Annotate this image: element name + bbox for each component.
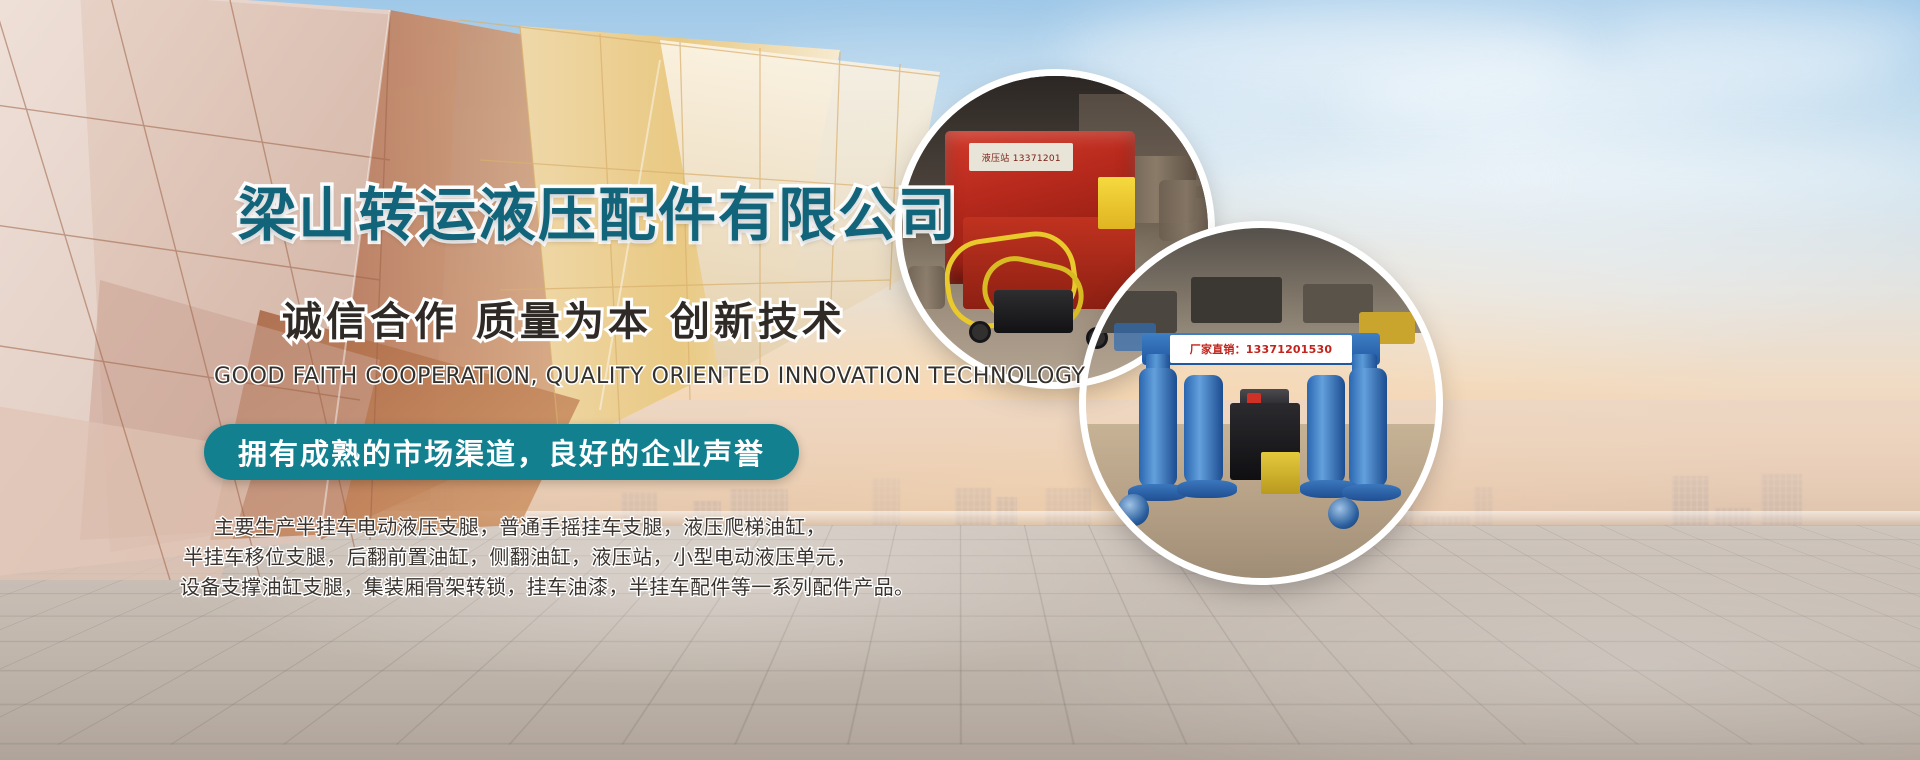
product-description: 主要生产半挂车电动液压支腿，普通手摇挂车支腿，液压爬梯油缸，半挂车移位支腿，后翻… (180, 512, 860, 602)
description-line: 主要生产半挂车电动液压支腿，普通手摇挂车支腿，液压爬梯油缸， (180, 512, 860, 542)
slogan-english: GOOD FAITH COOPERATION, QUALITY ORIENTED… (214, 366, 1086, 388)
description-line: 半挂车移位支腿，后翻前置油缸，侧翻油缸，液压站，小型电动液压单元， (180, 542, 860, 572)
phone-number-sign: 厂家直销：13371201530 (1170, 335, 1352, 363)
slogan-chinese: 诚信合作 质量为本 创新技术 (282, 302, 846, 342)
highlight-pill-label: 拥有成熟的市场渠道，良好的企业声誉 (238, 431, 765, 473)
cloud-shape (1180, 160, 1560, 204)
product-photo-blue-hydraulic-legs: 厂家直销：13371201530 (1086, 228, 1436, 578)
company-title: 梁山转运液压配件有限公司 (238, 186, 958, 244)
cloud-shape (1620, 4, 1920, 64)
highlight-pill: 拥有成熟的市场渠道，良好的企业声誉 (204, 424, 799, 480)
promotional-banner: 液压站 13371201 厂家直销：13371201530 (0, 0, 1920, 760)
description-line: 设备支撑油缸支腿，集装厢骨架转锁，挂车油漆，半挂车配件等一系列配件产品。 (180, 572, 860, 602)
banner-text-block: 梁山转运液压配件有限公司 诚信合作 质量为本 创新技术 GOOD FAITH C… (0, 0, 1060, 760)
